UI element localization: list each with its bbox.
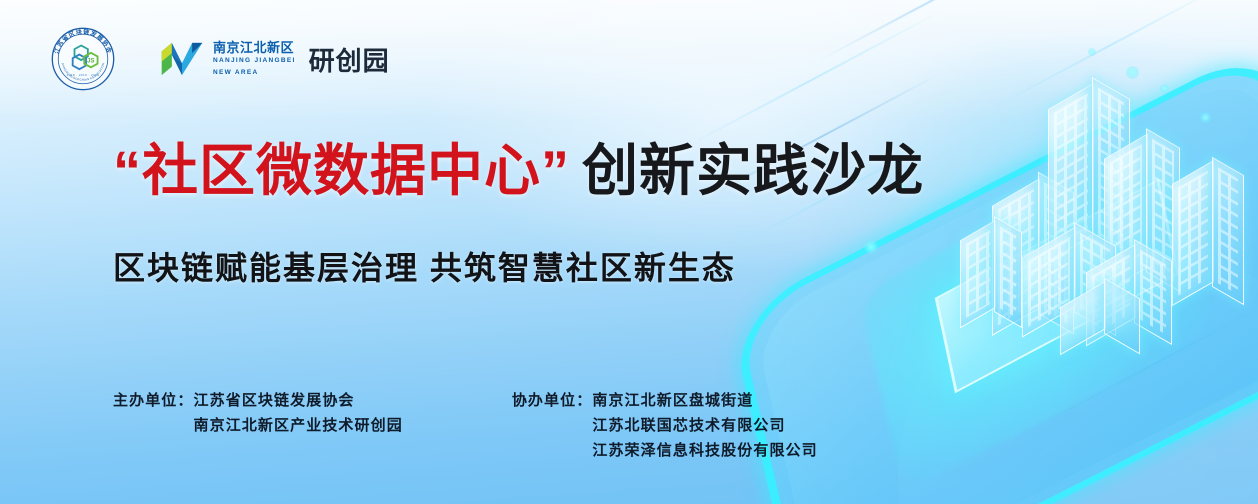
event-title-highlight: “社区微数据中心”: [113, 140, 570, 203]
cohost-item: 南京江北新区盘城街道: [592, 388, 817, 413]
cohost-organizers: 协办单位： 南京江北新区盘城街道 江苏北联国芯技术有限公司 江苏荣泽信息科技股份…: [512, 388, 818, 463]
n-monogram-icon: [160, 41, 204, 77]
nanjing-logo-cn-name: 南京江北新区: [213, 41, 296, 54]
logo-bar: 江苏省区块链发展协会 JIANGSU BLOCKCHAIN ASSOCIATIO…: [50, 22, 390, 96]
event-banner: 江苏省区块链发展协会 JIANGSU BLOCKCHAIN ASSOCIATIO…: [0, 0, 1258, 504]
host-label: 主办单位：: [113, 388, 194, 463]
jiangsu-blockchain-association-seal-icon: 江苏省区块链发展协会 JIANGSU BLOCKCHAIN ASSOCIATIO…: [50, 26, 116, 92]
headline-block: “社区微数据中心” 创新实践沙龙 区块链赋能基层治理 共筑智慧社区新生态: [113, 140, 973, 289]
svg-text:JS: JS: [87, 58, 94, 64]
cohost-item: 江苏北联国芯技术有限公司: [592, 413, 817, 438]
nanjing-jiangbei-new-area-logo: 南京江北新区 NANJING JIANGBEI NEW AREA 研创园: [160, 41, 390, 78]
nanjing-logo-sub-name: 研创园: [309, 41, 390, 78]
host-list: 江苏省区块链发展协会 南京江北新区产业技术研创园: [194, 388, 403, 463]
host-item: 江苏省区块链发展协会: [194, 388, 403, 413]
host-organizers: 主办单位： 江苏省区块链发展协会 南京江北新区产业技术研创园: [113, 388, 403, 463]
isometric-city-cluster: [936, 62, 1258, 362]
host-item: 南京江北新区产业技术研创园: [194, 413, 403, 438]
nanjing-logo-en-line2: NEW AREA: [213, 68, 296, 77]
event-title: “社区微数据中心” 创新实践沙龙: [113, 140, 973, 203]
nanjing-logo-text: 南京江北新区 NANJING JIANGBEI NEW AREA: [213, 41, 296, 77]
event-subtitle: 区块链赋能基层治理 共筑智慧社区新生态: [113, 243, 973, 289]
cohost-item: 江苏荣泽信息科技股份有限公司: [592, 438, 817, 463]
cohost-label: 协办单位：: [512, 388, 593, 463]
credits-block: 主办单位： 江苏省区块链发展协会 南京江北新区产业技术研创园 协办单位： 南京江…: [113, 388, 818, 463]
nanjing-logo-en-line1: NANJING JIANGBEI: [213, 56, 296, 65]
svg-text:2018 · 2019 · 2020: 2018 · 2019 · 2020: [67, 73, 100, 77]
cohost-list: 南京江北新区盘城街道 江苏北联国芯技术有限公司 江苏荣泽信息科技股份有限公司: [592, 388, 817, 463]
event-title-rest: 创新实践沙龙: [582, 140, 924, 203]
